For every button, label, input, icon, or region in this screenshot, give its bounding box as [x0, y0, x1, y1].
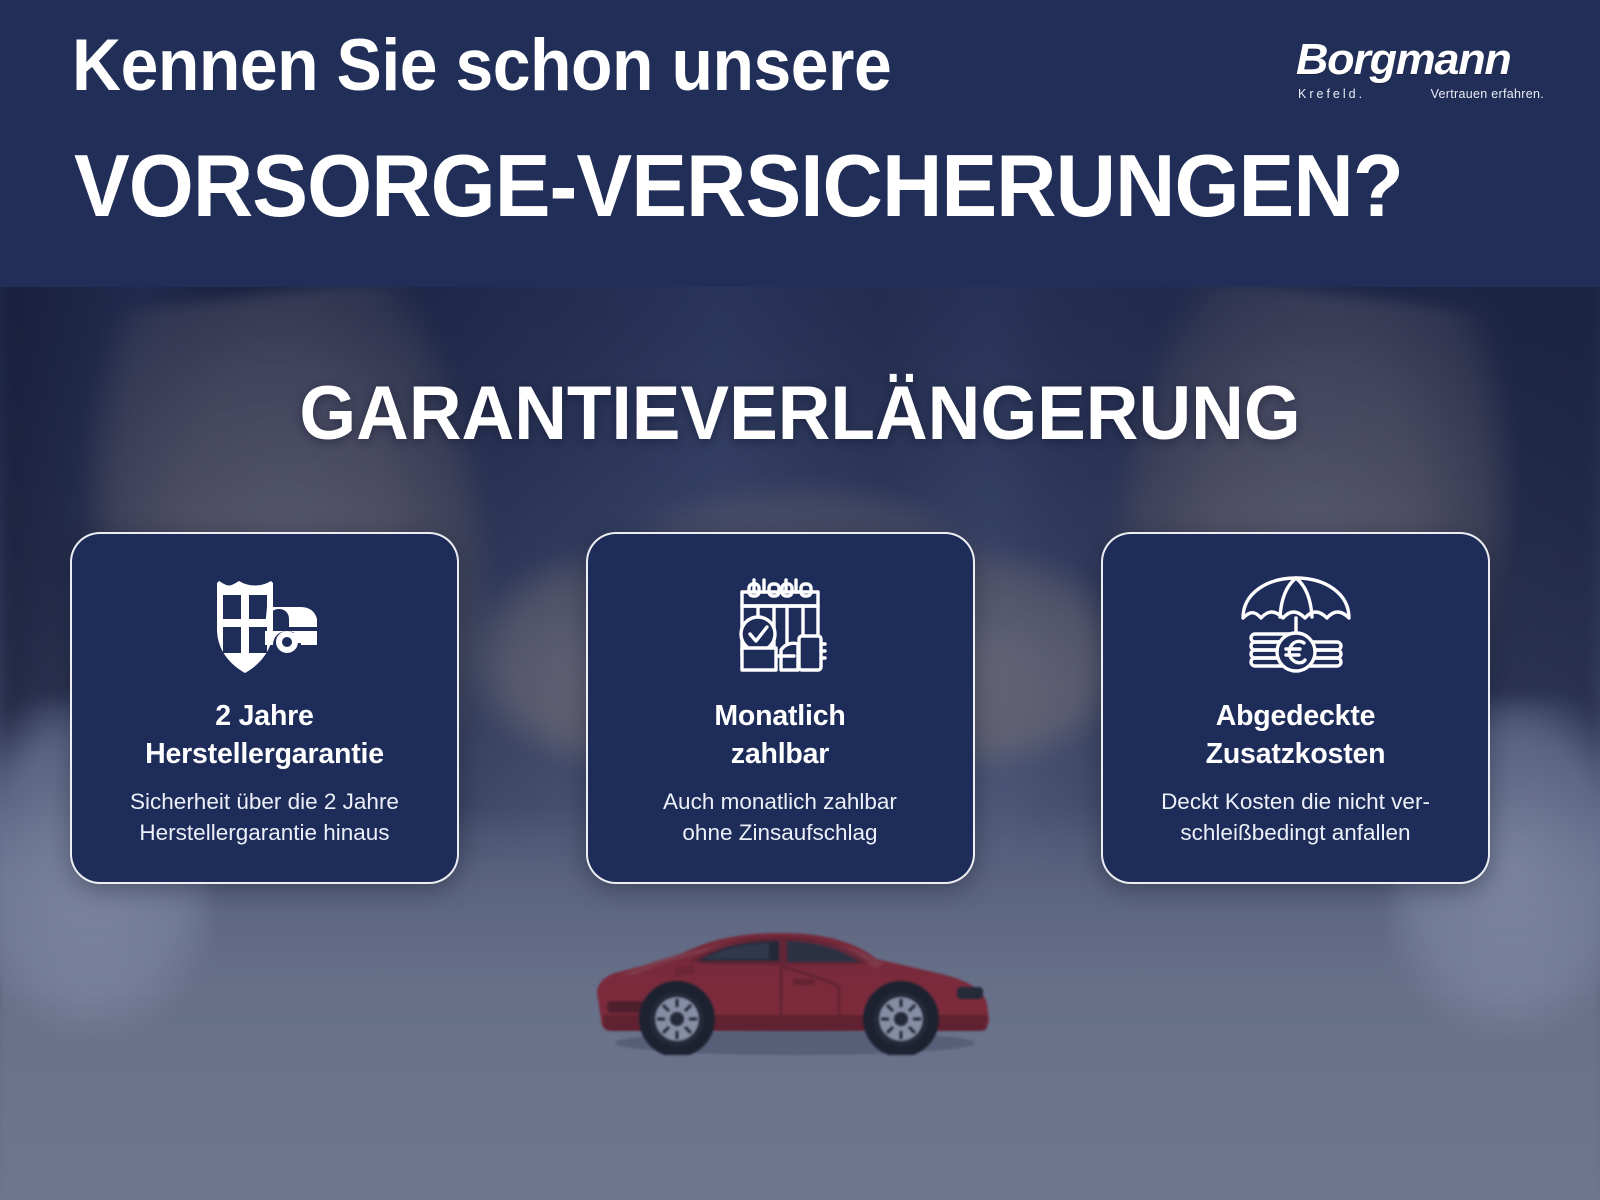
card-title: Abgedeckte Zusatzkosten — [1188, 698, 1404, 773]
feature-card-herstellergarantie[interactable]: 2 Jahre Herstellergarantie Sicherheit üb… — [70, 532, 459, 884]
headline-line-1: Kennen Sie schon unsere — [72, 28, 891, 105]
card-title-line-2: Herstellergarantie — [145, 738, 384, 770]
card-title: Monatlich zahlbar — [696, 698, 863, 773]
shield-car-icon — [205, 568, 325, 688]
umbrella-euro-coins-icon — [1236, 568, 1356, 688]
card-description: Deckt Kosten die nicht ver- schleißbedin… — [1145, 787, 1446, 848]
promo-banner: Kennen Sie schon unsere VORSORGE-VERSICH… — [0, 0, 1600, 1200]
card-desc-line-1: Auch monatlich zahlbar — [663, 789, 897, 814]
logo-tagline-slogan: Vertrauen erfahren. — [1431, 88, 1544, 101]
calendar-check-money-icon — [720, 568, 840, 688]
feature-cards: 2 Jahre Herstellergarantie Sicherheit üb… — [70, 532, 1490, 884]
logo-tagline-city: Krefeld. — [1298, 88, 1365, 101]
borgmann-logo: Borgmann Krefeld. Vertrauen erfahren. — [1296, 38, 1542, 110]
card-title-line-1: Abgedeckte — [1216, 700, 1376, 732]
card-description: Auch monatlich zahlbar ohne Zinsaufschla… — [647, 787, 913, 848]
card-title-line-2: zahlbar — [731, 738, 829, 770]
card-description: Sicherheit über die 2 Jahre Herstellerga… — [114, 787, 415, 848]
card-desc-line-2: schleißbedingt anfallen — [1180, 820, 1410, 845]
logo-wordmark: Borgmann — [1296, 38, 1547, 82]
feature-card-zusatzkosten[interactable]: Abgedeckte Zusatzkosten Deckt Kosten die… — [1101, 532, 1490, 884]
main-title: GARANTIEVERLÄNGERUNG — [32, 372, 1568, 456]
card-title-line-2: Zusatzkosten — [1206, 738, 1386, 770]
feature-card-monatlich-zahlbar[interactable]: Monatlich zahlbar Auch monatlich zahlbar… — [586, 532, 975, 884]
card-desc-line-1: Deckt Kosten die nicht ver- — [1161, 789, 1430, 814]
headline-line-2: VORSORGE-VERSICHERUNGEN? — [74, 140, 1403, 232]
card-title-line-1: Monatlich — [714, 700, 845, 732]
logo-tagline: Krefeld. Vertrauen erfahren. — [1298, 88, 1544, 101]
card-desc-line-1: Sicherheit über die 2 Jahre — [130, 789, 399, 814]
card-desc-line-2: Herstellergarantie hinaus — [139, 820, 389, 845]
card-title-line-1: 2 Jahre — [215, 700, 313, 732]
card-desc-line-2: ohne Zinsaufschlag — [682, 820, 877, 845]
card-title: 2 Jahre Herstellergarantie — [127, 698, 402, 773]
